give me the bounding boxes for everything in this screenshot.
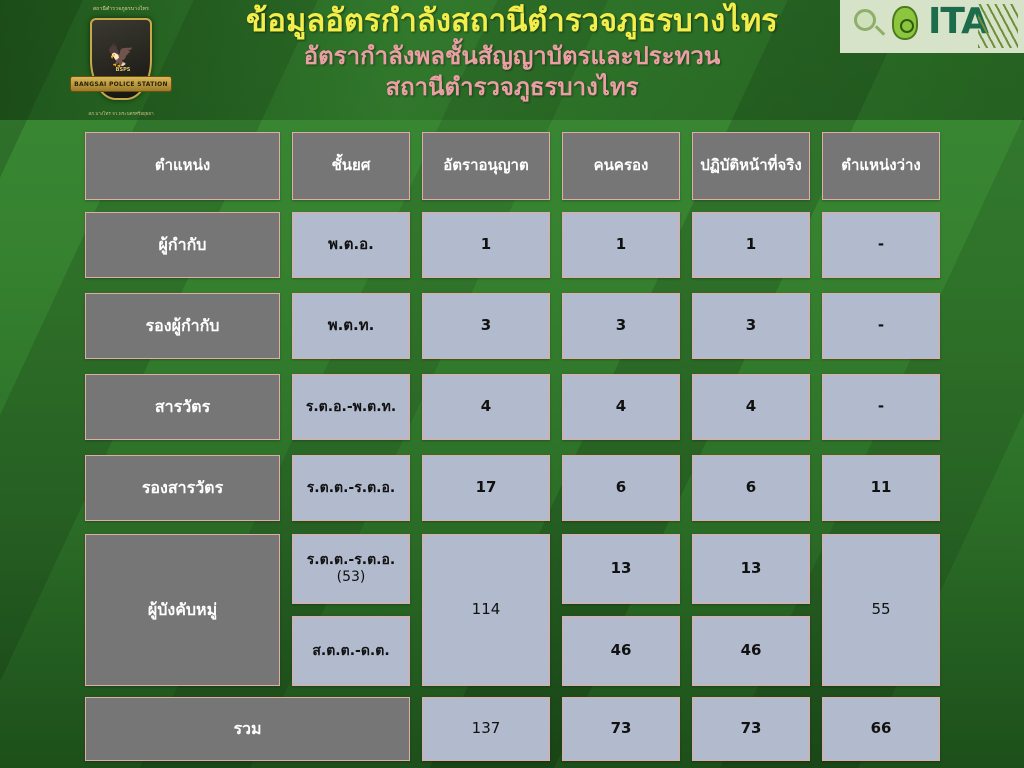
table-total-vacant: 66 [822,697,940,761]
table-cell-held: 4 [562,374,680,440]
table-total-held: 73 [562,697,680,761]
page-subtitle-line1: อัตรากำลังพลชั้นสัญญาบัตรและประทวน [150,41,874,73]
shield-icon [892,6,918,40]
page-title: ข้อมูลอัตรกำลังสถานีตำรวจภูธรบางไทร [150,2,874,41]
rank-1-line2: (53) [337,569,366,586]
table-cell-allowed: 1 [422,212,550,278]
table-row-merged-position: ผู้บังคับหมู่ [85,534,280,686]
table-cell-rank: พ.ต.อ. [292,212,410,278]
column-header-actual: ปฏิบัติหน้าที่จริง [692,132,810,200]
table-row: รองผู้กำกับ [85,293,280,359]
page-header: สถานีตำรวจภูธรบางไทร 🦅 BSPS ★ ★ BANGSAI … [0,0,1024,128]
table-row: สารวัตร [85,374,280,440]
table-cell-held-2: 46 [562,616,680,686]
table-cell-allowed-merged: 114 [422,534,550,686]
ita-logo: ITA [840,0,1024,53]
table-cell-actual: 3 [692,293,810,359]
table-cell-allowed: 17 [422,455,550,521]
column-header-vacant: ตำแหน่งว่าง [822,132,940,200]
table-total-actual: 73 [692,697,810,761]
table-cell-held: 6 [562,455,680,521]
magnifier-icon [854,9,876,31]
table-cell-actual: 1 [692,212,810,278]
table-row: รองสารวัตร [85,455,280,521]
column-header-allowed: อัตราอนุญาต [422,132,550,200]
table-row: ผู้กำกับ [85,212,280,278]
table-cell-vacant: 11 [822,455,940,521]
column-header-rank: ชั้นยศ [292,132,410,200]
table-cell-held: 1 [562,212,680,278]
table-cell-vacant: - [822,212,940,278]
table-cell-actual: 6 [692,455,810,521]
emblem-abbr: BSPS [92,67,154,73]
table-cell-held-1: 13 [562,534,680,604]
table-cell-rank-1: ร.ต.ต.-ร.ต.อ. (53) [292,534,410,604]
table-cell-actual-1: 13 [692,534,810,604]
table-cell-rank: ร.ต.อ.-พ.ต.ท. [292,374,410,440]
table-cell-held: 3 [562,293,680,359]
table-cell-allowed: 4 [422,374,550,440]
table-cell-rank: ร.ต.ต.-ร.ต.อ. [292,455,410,521]
emblem-bottom-text: สภ.บางไทร จว.พระนครศรีอยุธยา [62,110,180,117]
column-header-held: คนครอง [562,132,680,200]
eagle-icon: 🦅 [107,46,134,68]
column-header-position: ตำแหน่ง [85,132,280,200]
table-cell-rank: พ.ต.ท. [292,293,410,359]
table-cell-actual: 4 [692,374,810,440]
table-cell-vacant: - [822,293,940,359]
page-subtitle-line2: สถานีตำรวจภูธรบางไทร [150,72,874,104]
table-total-allowed: 137 [422,697,550,761]
title-block: ข้อมูลอัตรกำลังสถานีตำรวจภูธรบางไทร อัตร… [150,2,874,104]
table-cell-vacant-merged: 55 [822,534,940,686]
table-cell-actual-2: 46 [692,616,810,686]
table-total-label: รวม [85,697,410,761]
table-cell-rank-2: ส.ต.ต.-ด.ต. [292,616,410,686]
personnel-table: ตำแหน่ง ชั้นยศ อัตราอนุญาต คนครอง ปฏิบัต… [0,128,1024,768]
rank-1-line1: ร.ต.ต.-ร.ต.อ. [307,552,395,569]
ita-stripes-decoration [978,4,1018,48]
table-cell-vacant: - [822,374,940,440]
table-cell-allowed: 3 [422,293,550,359]
